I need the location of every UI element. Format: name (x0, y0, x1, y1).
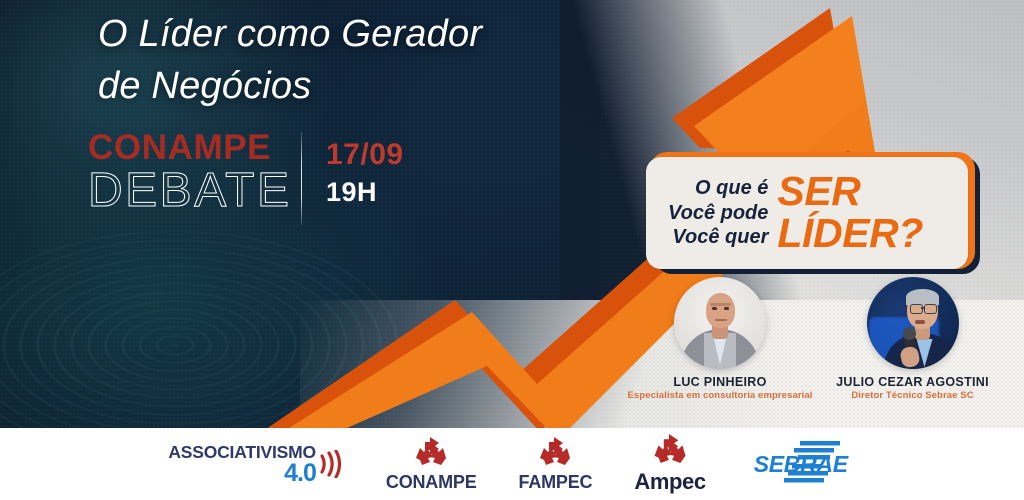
pinwheel-arrows-icon (414, 436, 448, 471)
event-date: 17/09 (326, 139, 404, 171)
sponsor-name: Ampec (634, 469, 705, 495)
callout-bubble: O que é Você pode Você quer SER LÍDER? (646, 157, 968, 269)
sponsor-name: CONAMPE (386, 472, 477, 493)
headline-line-1: O Líder como Gerador (98, 8, 618, 60)
portrait-mouth (915, 320, 925, 324)
portrait-glasses-left (910, 304, 923, 314)
callout-prompt-line-1: O que é (668, 176, 768, 200)
speaker-card-julio-cezar-agostini: JULIO CEZAR AGOSTINI Diretor Técnico Seb… (805, 277, 1020, 401)
lockup-divider (301, 132, 302, 225)
portrait-head (706, 293, 735, 328)
sponsor-logo-fampec[interactable]: FAMPEC (519, 436, 593, 493)
sponsor-logo-bar: ASSOCIATIVISMO 4.0 CONAMPE (0, 428, 1024, 500)
portrait-hair (906, 289, 939, 305)
speaker-photo-luc-pinheiro (674, 277, 766, 369)
callout-prompt-line-2: Você pode (668, 201, 768, 225)
headline-line-2: de Negócios (98, 60, 618, 112)
callout-prompt-line-3: Você quer (668, 225, 768, 249)
portrait-glasses-bridge (921, 307, 924, 309)
pinwheel-arrows-icon (538, 436, 572, 471)
callout-emphasis-line-2: LÍDER? (777, 213, 923, 255)
banner-headline: O Líder como Gerador de Negócios (98, 8, 618, 113)
portrait-brow (710, 303, 731, 306)
sponsor-name: FAMPEC (519, 472, 593, 493)
microphone-head-icon (903, 327, 916, 340)
signal-waves-icon (318, 450, 344, 483)
callout-prompt-lines: O que é Você pode Você quer (646, 176, 768, 249)
speaker-card-luc-pinheiro: LUC PINHEIRO Especialista em consultoria… (625, 277, 815, 401)
speaker-role: Especialista em consultoria empresarial (625, 390, 815, 401)
brand-event-type: DEBATE (88, 166, 291, 216)
sponsor-logo-associativismo[interactable]: ASSOCIATIVISMO 4.0 (168, 444, 344, 485)
sponsor-name: SEBRAE (754, 451, 848, 478)
speaker-name: LUC PINHEIRO (625, 375, 815, 389)
brand-organization: CONAMPE (88, 130, 291, 165)
portrait-glasses-right (924, 304, 937, 314)
pinwheel-arrows-icon (652, 433, 688, 469)
event-time: 19H (326, 179, 404, 206)
stripe-bars-icon: SEBRAE (748, 438, 856, 491)
event-promo-banner: O Líder como Gerador de Negócios CONAMPE… (0, 0, 1024, 500)
speaker-role: Diretor Técnico Sebrae SC (805, 390, 1020, 401)
portrait-eye-right (724, 307, 729, 310)
portrait-eye-left (712, 307, 717, 310)
sponsor-logo-ampec[interactable]: Ampec (634, 433, 705, 495)
callout-emphasis-line-1: SER (777, 171, 923, 213)
speaker-photo-julio-cezar-agostini (867, 277, 959, 369)
sponsor-suffix: 4.0 (168, 462, 316, 485)
sponsor-logo-sebrae[interactable]: SEBRAE (748, 438, 856, 491)
sponsor-logo-conampe[interactable]: CONAMPE (386, 436, 477, 493)
portrait-mouth (715, 319, 727, 321)
brand-lockup: CONAMPE DEBATE (88, 130, 291, 216)
callout-emphasis-lines: SER LÍDER? (768, 171, 923, 255)
speaker-name: JULIO CEZAR AGOSTINI (805, 375, 1020, 389)
schedule-block: 17/09 19H (326, 139, 404, 206)
